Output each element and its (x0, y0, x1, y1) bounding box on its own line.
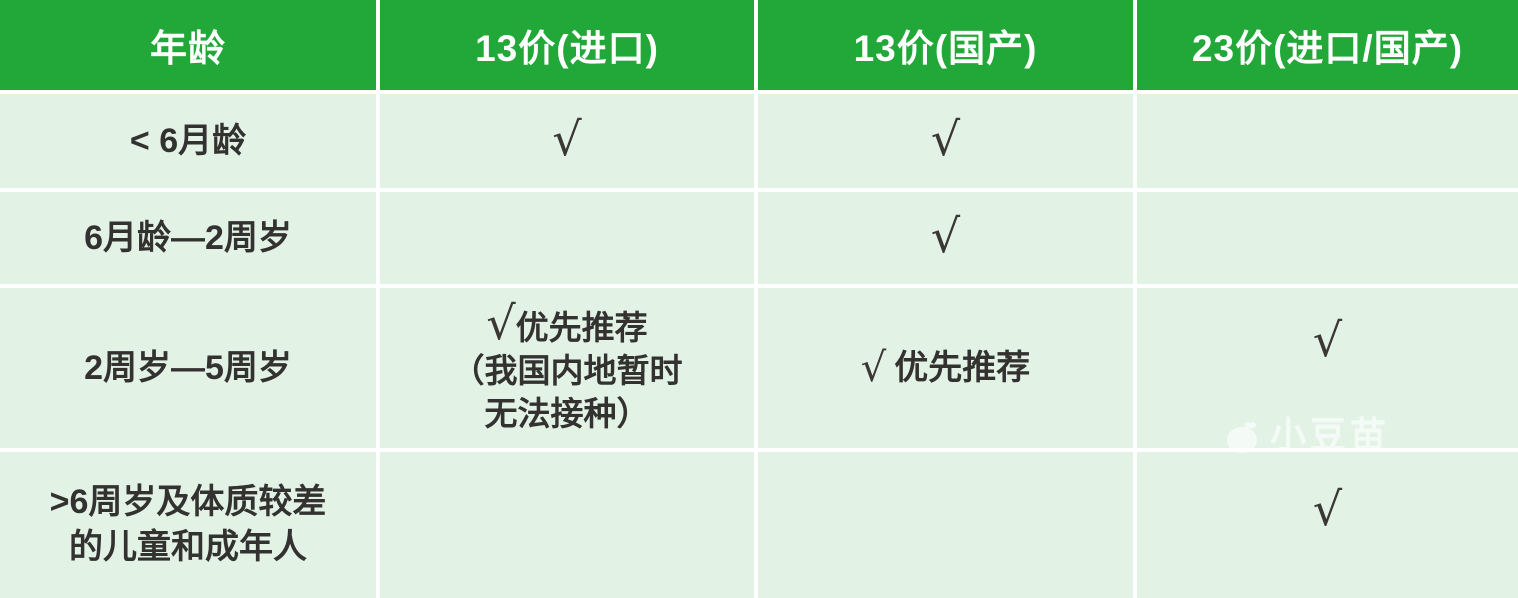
cell-pcv13-imported-row3: √优先推荐 （我国内地暂时 无法接种） (380, 288, 758, 452)
checkmark-icon: √ (861, 348, 887, 388)
header-row: 年龄 13价(进口) 13价(国产) 23价(进口/国产) (0, 0, 1518, 94)
cell-pcv13-domestic-row1: √ (758, 94, 1137, 192)
cell-age-under-6-months: < 6月龄 (0, 94, 380, 192)
checkmark-icon: √ (931, 116, 960, 162)
cell-pcv13-imported-row2 (380, 192, 758, 288)
cell-ppsv23-row3: √ (1137, 288, 1518, 452)
recommendation-note: √优先推荐 （我国内地暂时 无法接种） (386, 300, 748, 436)
cell-age-2-to-5-years: 2周岁—5周岁 (0, 288, 380, 452)
recommendation-note: √优先推荐 (861, 346, 1031, 391)
cell-age-over-6-years-and-weak-constitution: >6周岁及体质较差 的儿童和成年人 (0, 452, 380, 598)
checkmark-icon: √ (486, 300, 515, 346)
cell-ppsv23-row2 (1137, 192, 1518, 288)
cell-pcv13-domestic-row4 (758, 452, 1137, 598)
cell-age-6-months-to-2-years: 6月龄—2周岁 (0, 192, 380, 288)
age-label: >6周岁及体质较差 的儿童和成年人 (8, 480, 368, 570)
recommendation-text: 优先推荐 (894, 349, 1030, 387)
table-row: 2周岁—5周岁 √优先推荐 （我国内地暂时 无法接种） √优先推荐 √ (0, 288, 1518, 452)
column-header-pcv13-domestic: 13价(国产) (758, 0, 1137, 94)
table-row: < 6月龄 √ √ (0, 94, 1518, 192)
table-body: < 6月龄 √ √ 6月龄—2周岁 √ (0, 94, 1518, 598)
checkmark-icon: √ (1313, 317, 1342, 363)
vaccine-age-table: 年龄 13价(进口) 13价(国产) 23价(进口/国产) < 6月龄 √ √ (0, 0, 1518, 598)
column-header-ppsv23: 23价(进口/国产) (1137, 0, 1518, 94)
table-row: 6月龄—2周岁 √ (0, 192, 1518, 288)
age-label: 6月龄—2周岁 (8, 216, 368, 261)
age-label: 2周岁—5周岁 (8, 346, 368, 391)
cell-pcv13-imported-row4 (380, 452, 758, 598)
table-header: 年龄 13价(进口) 13价(国产) 23价(进口/国产) (0, 0, 1518, 94)
age-label: < 6月龄 (8, 119, 368, 164)
checkmark-icon: √ (1313, 486, 1342, 532)
checkmark-icon: √ (552, 116, 581, 162)
cell-ppsv23-row4: √ (1137, 452, 1518, 598)
column-header-pcv13-imported: 13价(进口) (380, 0, 758, 94)
cell-pcv13-imported-row1: √ (380, 94, 758, 192)
cell-pcv13-domestic-row3: √优先推荐 (758, 288, 1137, 452)
cell-ppsv23-row1 (1137, 94, 1518, 192)
cell-pcv13-domestic-row2: √ (758, 192, 1137, 288)
table-row: >6周岁及体质较差 的儿童和成年人 √ (0, 452, 1518, 598)
checkmark-icon: √ (931, 213, 960, 259)
column-header-age: 年龄 (0, 0, 380, 94)
